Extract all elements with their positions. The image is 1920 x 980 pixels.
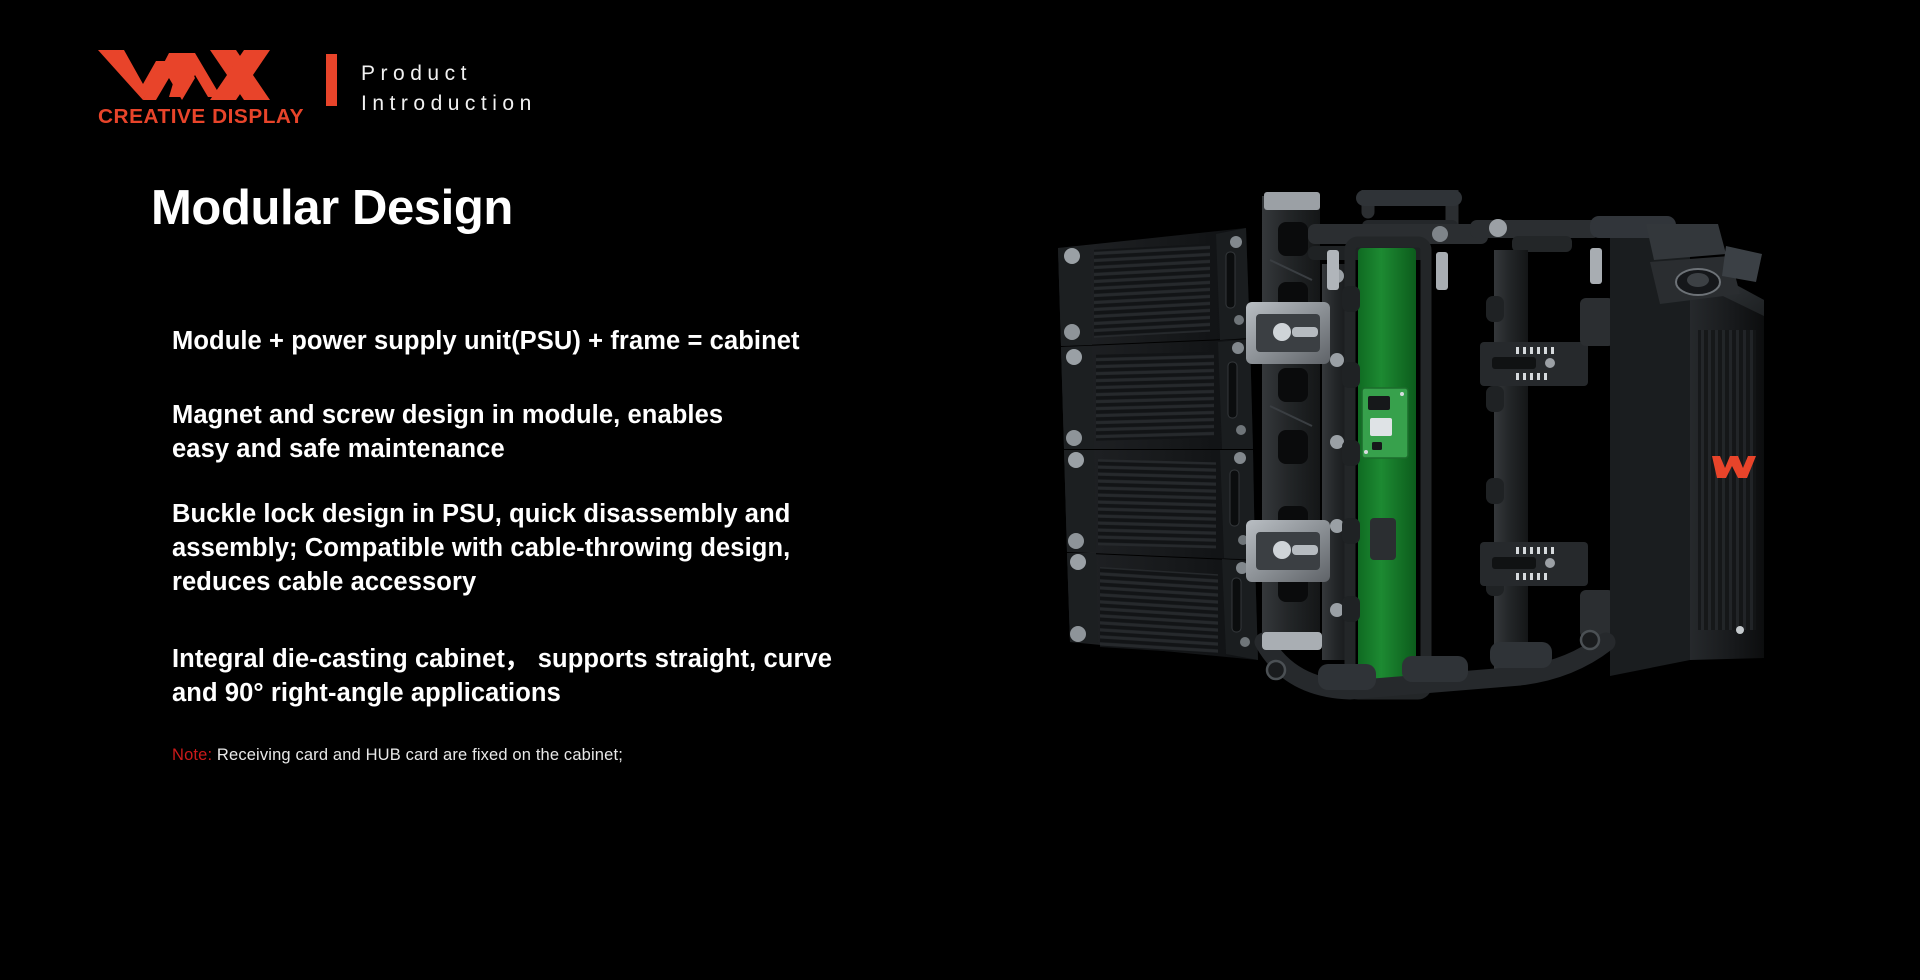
logo-block: CREATIVE DISPLAY xyxy=(98,48,296,127)
page-title: Modular Design xyxy=(151,182,513,236)
receiving-card-pcb xyxy=(1342,242,1426,694)
feature-paragraph-2: Magnet and screw design in module, enabl… xyxy=(172,399,1052,467)
product-render xyxy=(1050,190,1870,810)
brand-title-line-2: Introduction xyxy=(361,89,537,119)
cable-connector-block-lower xyxy=(1480,542,1588,586)
note-label: Note: xyxy=(172,746,212,764)
brand-divider xyxy=(326,54,337,106)
feature-paragraph-3: Buckle lock design in PSU, quick disasse… xyxy=(172,498,1052,600)
brand-title-line-1: Product xyxy=(361,59,537,89)
hub-card xyxy=(1370,518,1396,560)
cable-connector-block xyxy=(1480,342,1588,386)
brand-header: CREATIVE DISPLAY Product Introduction xyxy=(98,48,537,127)
frame-rail-right xyxy=(1480,250,1614,680)
power-supply-unit xyxy=(1610,224,1764,676)
receiving-card xyxy=(1362,388,1408,458)
vmx-logo-icon xyxy=(98,48,270,105)
note-line: Note: Receiving card and HUB card are fi… xyxy=(172,745,1052,766)
slide-root: CREATIVE DISPLAY Product Introduction Mo… xyxy=(0,0,1920,980)
note-text: Receiving card and HUB card are fixed on… xyxy=(217,746,623,764)
brand-title: Product Introduction xyxy=(361,59,537,119)
bottom-cross-brace xyxy=(1262,631,1606,690)
logo-wordmark: CREATIVE DISPLAY xyxy=(98,107,304,127)
feature-paragraph-1: Module + power supply unit(PSU) + frame … xyxy=(172,325,1052,359)
feature-paragraph-4: Integral die-casting cabinet， supports s… xyxy=(172,643,1052,711)
led-module-panel xyxy=(1058,228,1258,660)
body-copy: Module + power supply unit(PSU) + frame … xyxy=(172,325,1052,767)
